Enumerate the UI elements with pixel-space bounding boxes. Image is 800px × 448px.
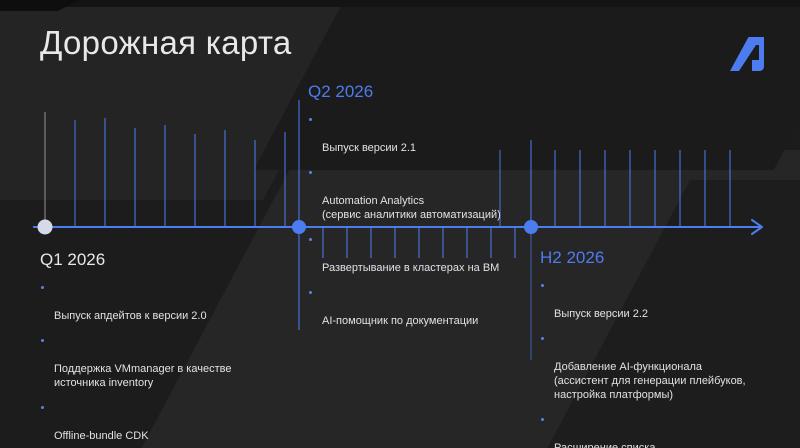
bullet-dot-icon — [309, 171, 312, 174]
list-item-text: Выпуск апдейтов к версии 2.0 — [54, 310, 207, 322]
list-item-text: Выпуск версии 2.2 — [554, 308, 648, 320]
bullet-dot-icon — [541, 337, 544, 340]
bullet-dot-icon — [309, 291, 312, 294]
list-item-text: Добавление AI-функционала (ассистент для… — [554, 361, 746, 401]
milestone-list-q2: Выпуск версии 2.1 Automation Analytics (… — [308, 113, 558, 328]
list-item: Поддержка VMmanager в качестве источника… — [40, 334, 280, 390]
milestone-block-h2: H2 2026 Выпуск версии 2.2 Добавление AI-… — [540, 248, 790, 448]
list-item: Automation Analytics (сервис аналитики а… — [308, 166, 558, 222]
page-title: Дорожная карта — [40, 24, 292, 62]
bullet-dot-icon — [41, 339, 44, 342]
list-item: Добавление AI-функционала (ассистент для… — [540, 332, 790, 402]
bullet-dot-icon — [41, 406, 44, 409]
bullet-dot-icon — [41, 286, 44, 289]
bullet-dot-icon — [309, 118, 312, 121]
timeline-marker-q2[interactable] — [292, 220, 306, 234]
list-item-text: Offline-bundle CDK — [54, 430, 149, 442]
milestone-block-q2: Q2 2026 Выпуск версии 2.1 Automation Ana… — [308, 82, 558, 328]
list-item: Развертывание в кластерах на ВМ — [308, 233, 558, 275]
list-item-text: AI-помощник по документации — [322, 315, 478, 327]
list-item-text: Развертывание в кластерах на ВМ — [322, 262, 499, 274]
bullet-dot-icon — [541, 284, 544, 287]
milestone-list-h2: Выпуск версии 2.2 Добавление AI-функцион… — [540, 279, 790, 448]
list-item: Расширение списка партнерских Ansible-ко… — [540, 413, 790, 448]
timeline-arrow-icon — [752, 220, 762, 234]
milestone-heading-h2: H2 2026 — [540, 248, 790, 268]
top-left-notch — [0, 0, 80, 11]
milestone-heading-q2: Q2 2026 — [308, 82, 558, 102]
timeline-marker-q1[interactable] — [38, 220, 53, 235]
bullet-dot-icon — [309, 238, 312, 241]
milestone-list-q1: Выпуск апдейтов к версии 2.0 Поддержка V… — [40, 281, 280, 443]
timeline-ticks-upper-right — [555, 150, 730, 227]
list-item-text: Выпуск версии 2.1 — [322, 142, 416, 154]
top-edge-strip — [0, 0, 800, 7]
timeline-ticks-upper-left — [45, 112, 285, 227]
milestone-heading-q1: Q1 2026 — [40, 250, 280, 270]
list-item: Offline-bundle CDK — [40, 401, 280, 443]
list-item-text: Automation Analytics (сервис аналитики а… — [322, 195, 501, 221]
bullet-dot-icon — [541, 418, 544, 421]
list-item-text: Расширение списка партнерских Ansible-ко… — [554, 442, 713, 448]
list-item: Выпуск версии 2.1 — [308, 113, 558, 155]
logo-mark-icon — [728, 36, 770, 74]
list-item: Выпуск версии 2.2 — [540, 279, 790, 321]
company-logo — [728, 36, 770, 74]
list-item: AI-помощник по документации — [308, 286, 558, 328]
list-item-text: Поддержка VMmanager в качестве источника… — [54, 363, 231, 389]
milestone-block-q1: Q1 2026 Выпуск апдейтов к версии 2.0 Под… — [40, 250, 280, 443]
roadmap-slide: Дорожная карта — [0, 0, 800, 448]
list-item: Выпуск апдейтов к версии 2.0 — [40, 281, 280, 323]
